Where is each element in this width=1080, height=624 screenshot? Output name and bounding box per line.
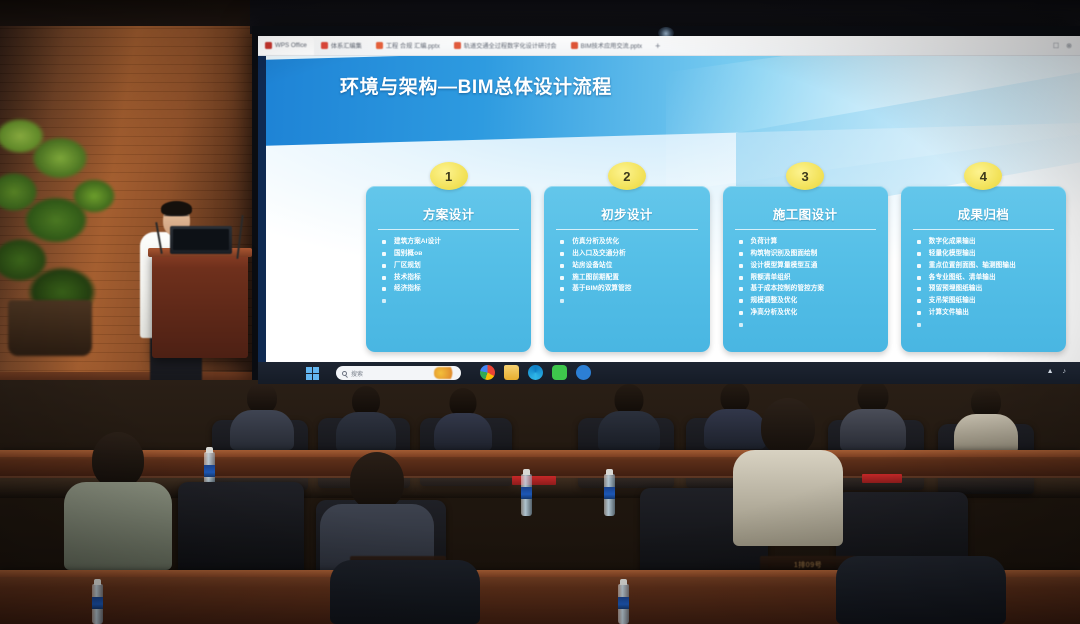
person-head [761, 398, 815, 456]
laptop-screen [173, 229, 229, 250]
doc-icon [454, 42, 461, 49]
list-item: 预留预埋图纸输出 [917, 284, 1062, 293]
list-item: 建筑方案AI设计 [382, 237, 527, 246]
glasses-icon [164, 215, 189, 220]
screenshot-root: WPS Office 体系汇编集 工程 合规 汇编.pptx 轨道交通全过程数字… [0, 0, 1080, 624]
laptop [170, 226, 232, 254]
card-title: 方案设计 [370, 204, 527, 229]
bottle-label [604, 487, 615, 499]
person-torso [598, 411, 660, 451]
person-head [92, 432, 144, 488]
person-torso [836, 556, 1006, 624]
presentation-slide: 环境与架构—BIM总体设计流程 1 方案设计 建筑方案AI设计 国别概ов 厂区… [266, 56, 1080, 380]
water-bottle [521, 474, 532, 516]
folder-icon[interactable] [504, 365, 519, 380]
list-item: 构筑物识别及图面绘制 [739, 249, 884, 258]
card-bullet-list: 仿真分析及优化 出入口及交通分析 站房设备站位 施工图前期配置 基于BIM的双算… [548, 237, 705, 294]
audience-person [596, 384, 662, 442]
audience-person [334, 386, 398, 444]
restore-icon[interactable]: ☐ [1053, 42, 1059, 50]
wps-icon [265, 42, 272, 49]
bottle-cap [620, 579, 627, 585]
notebook [862, 474, 902, 483]
person-torso [336, 412, 396, 452]
card-divider [556, 229, 697, 230]
card-divider [378, 229, 519, 230]
card-divider [735, 229, 876, 230]
card-divider [913, 229, 1054, 230]
list-item: 出入口及交通分析 [560, 249, 705, 258]
tab-label: BIM技术应用交流.pptx [581, 41, 643, 50]
search-placeholder: 搜索 [351, 369, 363, 378]
wechat-icon[interactable] [552, 365, 567, 380]
card-bullet-list: 数字化成果输出 轻量化模型输出 重点位置剖面图、轴测图输出 各专业图纸、清单输出… [905, 237, 1062, 318]
list-item: 轻量化模型输出 [917, 249, 1062, 258]
window-controls: ☐ ⊗ [1053, 42, 1080, 50]
bottle-cap [606, 469, 613, 475]
tab-label: 轨道交通全过程数字化设计研讨会 [464, 41, 557, 50]
audience-person [432, 388, 494, 444]
list-item: 施工图前期配置 [560, 273, 705, 282]
list-item: 支吊架图纸输出 [917, 296, 1062, 305]
browser-tab-4[interactable]: BIM技术应用交流.pptx [564, 37, 650, 55]
ppt-icon [376, 42, 383, 49]
search-icon [342, 371, 347, 376]
audience-person [838, 380, 908, 442]
card-number-badge: 2 [608, 162, 646, 190]
bottle-cap [206, 447, 213, 453]
speaker-hair [161, 201, 192, 216]
list-item: 经济指标 [382, 284, 527, 293]
card-body: 初步设计 仿真分析及优化 出入口及交通分析 站房设备站位 施工图前期配置 基于B… [544, 186, 709, 352]
audience-person [228, 382, 296, 442]
process-card-2: 2 初步设计 仿真分析及优化 出入口及交通分析 站房设备站位 施工图前期配置 基… [544, 184, 709, 354]
list-item: 规模调整及优化 [739, 296, 884, 305]
audience-person [732, 398, 844, 528]
audience-person [62, 432, 174, 552]
tab-label: WPS Office [275, 42, 307, 49]
card-number-badge: 3 [786, 162, 824, 190]
list-item: 各专业图纸、清单输出 [917, 273, 1062, 282]
person-torso [840, 409, 906, 451]
taskbar-app-icons [480, 365, 591, 380]
card-bullet-list: 建筑方案AI设计 国别概ов 厂区规划 技术指标 经济指标 [370, 237, 527, 294]
audience-person [330, 560, 480, 624]
card-bullet-list: 负荷计算 构筑物识别及图面绘制 设计模型算量模型互通 限额清单组织 基于成本控制… [727, 237, 884, 318]
card-body: 成果归档 数字化成果输出 轻量化模型输出 重点位置剖面图、轴测图输出 各专业图纸… [901, 186, 1066, 352]
card-number-badge: 4 [964, 162, 1002, 190]
water-bottle [92, 584, 103, 624]
process-card-3: 3 施工图设计 负荷计算 构筑物识别及图面绘制 设计模型算量模型互通 限额清单组… [723, 184, 888, 354]
person-torso [733, 450, 843, 546]
person-torso [330, 560, 480, 624]
plant-pot [8, 300, 92, 356]
browser-tab-3[interactable]: 轨道交通全过程数字化设计研讨会 [447, 37, 564, 55]
list-item: 技术指标 [382, 273, 527, 282]
list-item: 重点位置剖面图、轴测图输出 [917, 261, 1062, 270]
new-tab-button[interactable]: + [649, 41, 666, 51]
card-body: 方案设计 建筑方案AI设计 国别概ов 厂区规划 技术指标 经济指标 [366, 186, 531, 352]
process-card-1: 1 方案设计 建筑方案AI设计 国别概ов 厂区规划 技术指标 经济指标 [366, 184, 531, 354]
chair [178, 482, 304, 578]
person-torso [434, 413, 492, 451]
system-tray: ▲ ♪ [1047, 368, 1066, 375]
list-item: 仿真分析及优化 [560, 237, 705, 246]
edge-icon[interactable] [528, 365, 543, 380]
person-torso [64, 482, 172, 570]
process-card-4: 4 成果归档 数字化成果输出 轻量化模型输出 重点位置剖面图、轴测图输出 各专业… [901, 184, 1066, 354]
water-bottle [604, 474, 615, 516]
volume-icon[interactable]: ♪ [1063, 368, 1067, 375]
browser-tab-0[interactable]: WPS Office [258, 37, 314, 55]
list-item: 计算文件输出 [917, 308, 1062, 317]
process-card-row: 1 方案设计 建筑方案AI设计 国别概ов 厂区规划 技术指标 经济指标 [366, 184, 1066, 354]
card-number-badge: 1 [430, 162, 468, 190]
list-item: 限额清单组织 [739, 273, 884, 282]
bottle-cap [94, 579, 101, 585]
list-item: 设计模型算量模型互通 [739, 261, 884, 270]
chrome-icon[interactable] [480, 365, 495, 380]
person-head [350, 452, 404, 510]
tab-label: 工程 合规 汇编.pptx [386, 41, 440, 50]
list-item: 国别概ов [382, 249, 527, 258]
bottle-cap [523, 469, 530, 475]
app-sidebar-strip [258, 56, 266, 380]
list-item: 负荷计算 [739, 237, 884, 246]
list-item: 数字化成果输出 [917, 237, 1062, 246]
windows-taskbar: 搜索 ▲ ♪ [258, 362, 1080, 384]
tab-label: 体系汇编集 [331, 41, 362, 50]
list-item: 基于成本控制的管控方案 [739, 284, 884, 293]
slide-title: 环境与架构—BIM总体设计流程 [340, 72, 612, 99]
bottle-label [92, 597, 103, 609]
audience-person [952, 386, 1020, 446]
weather-widget[interactable] [434, 367, 456, 379]
notebook [512, 476, 556, 485]
close-icon[interactable]: ⊗ [1066, 42, 1072, 50]
chevron-up-icon[interactable]: ▲ [1047, 368, 1054, 375]
pdf-icon [321, 42, 328, 49]
audience-person [836, 556, 1006, 624]
card-title: 施工图设计 [727, 204, 884, 229]
browser-tab-strip: WPS Office 体系汇编集 工程 合规 汇编.pptx 轨道交通全过程数字… [258, 36, 1080, 56]
water-bottle [618, 584, 629, 624]
browser-tab-2[interactable]: 工程 合规 汇编.pptx [369, 37, 447, 55]
start-icon[interactable] [306, 367, 319, 380]
qq-icon[interactable] [576, 365, 591, 380]
list-item: 站房设备站位 [560, 261, 705, 270]
card-title: 初步设计 [548, 204, 705, 229]
bottle-label [204, 465, 215, 477]
doc-icon [571, 42, 578, 49]
podium [152, 251, 248, 358]
list-item: 基于BIM的双算管控 [560, 284, 705, 293]
browser-tab-1[interactable]: 体系汇编集 [314, 37, 369, 55]
list-item: 厂区规划 [382, 261, 527, 270]
card-body: 施工图设计 负荷计算 构筑物识别及图面绘制 设计模型算量模型互通 限额清单组织 … [723, 186, 888, 352]
person-torso [230, 410, 294, 450]
list-item: 净高分析及优化 [739, 308, 884, 317]
person-torso [954, 414, 1018, 454]
bottle-label [521, 487, 532, 499]
bottle-label [618, 597, 629, 609]
display-screen: WPS Office 体系汇编集 工程 合规 汇编.pptx 轨道交通全过程数字… [258, 36, 1080, 380]
card-title: 成果归档 [905, 204, 1062, 229]
